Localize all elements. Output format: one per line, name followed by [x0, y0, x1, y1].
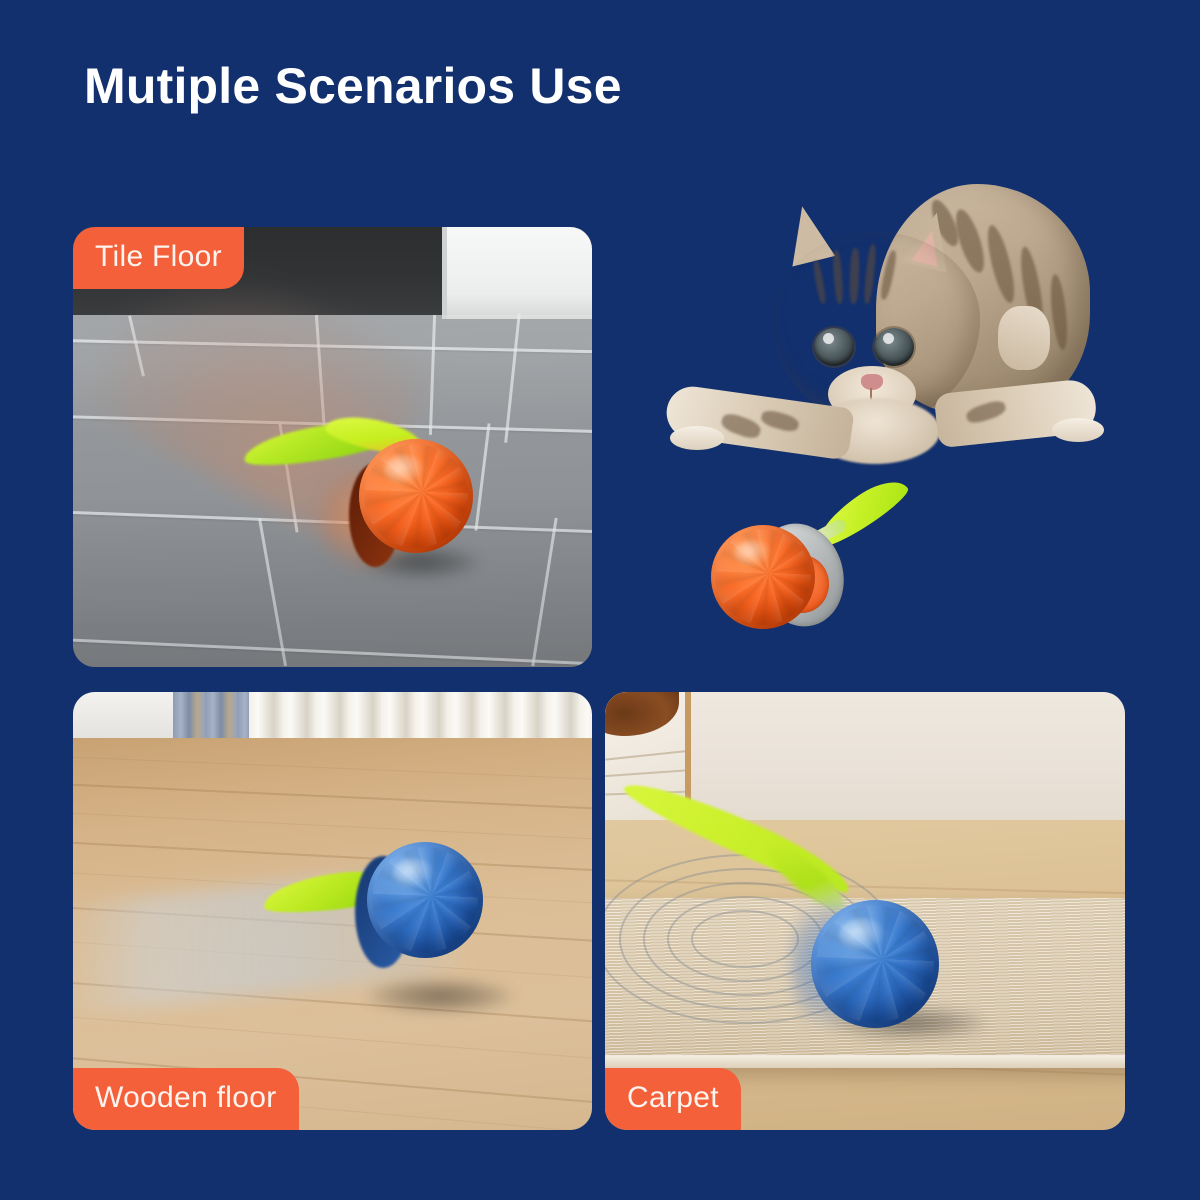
wood-grain: [73, 1013, 592, 1064]
wood-grain: [73, 755, 592, 783]
wall-art: [605, 692, 679, 736]
wall-art-line: [605, 769, 691, 777]
ball-orange: [711, 525, 815, 629]
cat-eye-glint: [823, 333, 834, 344]
cat-hind-paw: [998, 306, 1050, 370]
wood-grain: [73, 810, 592, 842]
cat-nose: [861, 374, 883, 390]
badge-label: Tile Floor: [95, 240, 222, 274]
rug-pattern-arc: [691, 910, 799, 968]
badge-label: Wooden floor: [95, 1081, 277, 1115]
cat-paw-left: [670, 426, 724, 450]
plank-seam: [73, 839, 592, 876]
cat-eye-glint: [883, 333, 894, 344]
cat-eye-right: [874, 328, 914, 366]
carpet-photo: [605, 692, 1125, 1130]
white-cabinet: [442, 227, 592, 319]
ball-highlight: [384, 455, 425, 485]
wooden-floor-photo: [73, 692, 592, 1130]
hero-ball-toy-icon: [705, 495, 915, 645]
cat-eye-left: [814, 328, 854, 366]
page-title: Mutiple Scenarios Use: [84, 58, 622, 116]
ball-highlight: [734, 540, 771, 567]
badge-carpet[interactable]: Carpet: [605, 1068, 741, 1130]
ball-orange: [359, 439, 473, 553]
scenario-card-tile[interactable]: Tile Floor: [73, 227, 592, 667]
badge-label: Carpet: [627, 1081, 719, 1115]
badge-wooden-floor[interactable]: Wooden floor: [73, 1068, 299, 1130]
cat-paw-right: [1052, 418, 1104, 442]
ball-shadow: [365, 978, 515, 1014]
tile-floor-photo: [73, 227, 592, 667]
wall-art-line: [605, 749, 691, 760]
scenario-card-carpet[interactable]: Carpet: [605, 692, 1125, 1130]
plank-seam: [73, 781, 592, 813]
ball-blue: [811, 900, 939, 1028]
badge-tile-floor[interactable]: Tile Floor: [73, 227, 244, 289]
ball-blue: [367, 842, 483, 958]
scenario-card-wooden-floor[interactable]: Wooden floor: [73, 692, 592, 1130]
cat-icon: [660, 170, 1120, 490]
rug-edge: [605, 1055, 1125, 1068]
